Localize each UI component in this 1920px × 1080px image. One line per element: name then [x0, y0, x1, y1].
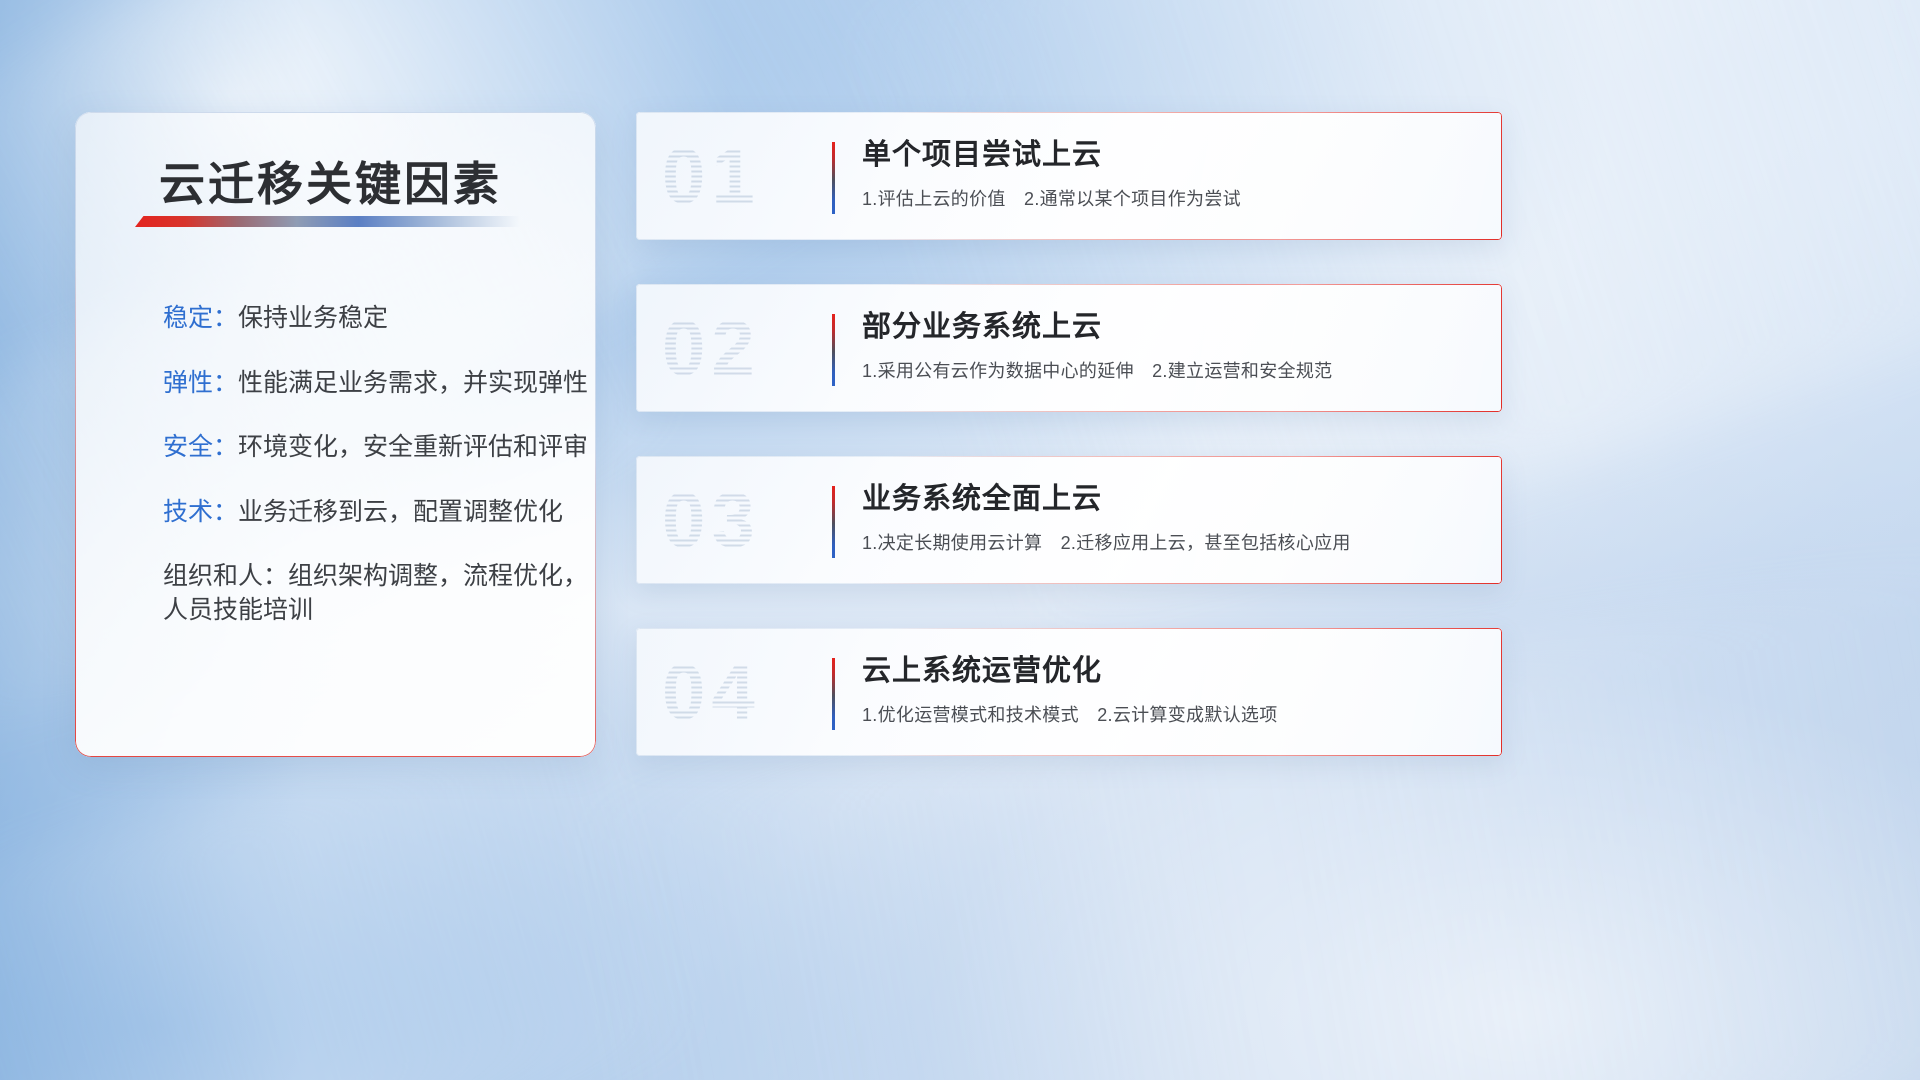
card-body: 业务系统全面上云 1.决定长期使用云计算 2.迁移应用上云，甚至包括核心应用: [862, 482, 1478, 555]
card-description: 1.决定长期使用云计算 2.迁移应用上云，甚至包括核心应用: [862, 529, 1478, 555]
stage-number: 02: [662, 303, 761, 394]
card-description: 1.采用公有云作为数据中心的延伸 2.建立运营和安全规范: [862, 357, 1478, 383]
card-description: 1.评估上云的价值 2.通常以某个项目作为尝试: [862, 185, 1478, 211]
stage-card[interactable]: 04 云上系统运营优化 1.优化运营模式和技术模式 2.云计算变成默认选项: [636, 628, 1502, 756]
list-item-label: 弹性：: [163, 369, 238, 397]
stage-number: 03: [662, 475, 761, 566]
key-factors-list: 稳定：保持业务稳定 弹性：性能满足业务需求，并实现弹性 安全：环境变化，安全重新…: [163, 302, 593, 627]
stage-card[interactable]: 01 单个项目尝试上云 1.评估上云的价值 2.通常以某个项目作为尝试: [636, 112, 1502, 240]
accent-bar: [832, 658, 835, 730]
panel-title: 云迁移关键因素: [159, 148, 502, 214]
card-description: 1.优化运营模式和技术模式 2.云计算变成默认选项: [862, 701, 1478, 727]
card-title: 单个项目尝试上云: [862, 138, 1478, 173]
list-item: 安全：环境变化，安全重新评估和评审: [163, 431, 593, 465]
list-item-label: 安全：: [163, 433, 238, 461]
card-title: 部分业务系统上云: [862, 310, 1478, 345]
accent-bar: [832, 486, 835, 558]
accent-bar: [832, 314, 835, 386]
card-body: 单个项目尝试上云 1.评估上云的价值 2.通常以某个项目作为尝试: [862, 138, 1478, 211]
list-item: 弹性：性能满足业务需求，并实现弹性: [163, 367, 593, 401]
list-item-text: 业务迁移到云，配置调整优化: [238, 498, 563, 526]
stage-card[interactable]: 02 部分业务系统上云 1.采用公有云作为数据中心的延伸 2.建立运营和安全规范: [636, 284, 1502, 412]
card-title: 云上系统运营优化: [862, 654, 1478, 689]
list-item-label: 技术：: [163, 498, 238, 526]
list-item-text: 性能满足业务需求，并实现弹性: [238, 369, 588, 397]
stage-number: 01: [662, 131, 761, 222]
list-item-text: 环境变化，安全重新评估和评审: [238, 433, 588, 461]
list-item: 组织和人：组织架构调整，流程优化，人员技能培训: [163, 560, 593, 627]
list-item: 技术：业务迁移到云，配置调整优化: [163, 496, 593, 530]
card-title: 业务系统全面上云: [862, 482, 1478, 517]
migration-stage-cards: 01 单个项目尝试上云 1.评估上云的价值 2.通常以某个项目作为尝试 02 部…: [636, 112, 1502, 756]
title-underline-accent: [135, 216, 520, 227]
card-body: 云上系统运营优化 1.优化运营模式和技术模式 2.云计算变成默认选项: [862, 654, 1478, 727]
accent-bar: [832, 142, 835, 214]
card-body: 部分业务系统上云 1.采用公有云作为数据中心的延伸 2.建立运营和安全规范: [862, 310, 1478, 383]
stage-card[interactable]: 03 业务系统全面上云 1.决定长期使用云计算 2.迁移应用上云，甚至包括核心应…: [636, 456, 1502, 584]
list-item-label: 组织和人：: [163, 562, 288, 590]
list-item-text: 保持业务稳定: [238, 304, 388, 332]
list-item: 稳定：保持业务稳定: [163, 302, 593, 336]
stage-number: 04: [662, 647, 761, 738]
key-factors-panel: 云迁移关键因素 稳定：保持业务稳定 弹性：性能满足业务需求，并实现弹性 安全：环…: [75, 112, 596, 757]
list-item-label: 稳定：: [163, 304, 238, 332]
